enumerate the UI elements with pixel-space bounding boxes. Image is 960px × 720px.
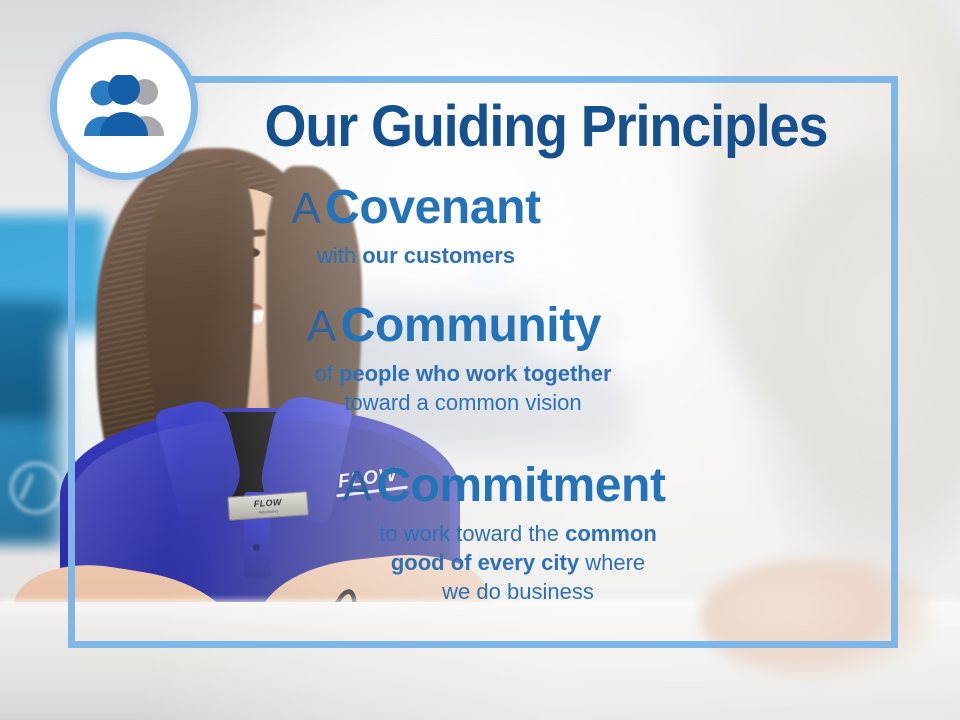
subtext-span: we do business xyxy=(442,579,594,604)
principle-subtext: with our customers xyxy=(68,241,898,270)
subtext-line: toward a common vision xyxy=(68,388,858,417)
principle-heading: A Commitment xyxy=(68,462,898,511)
subtext-span: to work toward the xyxy=(379,521,565,546)
subtext-line: to work toward the common xyxy=(138,519,898,548)
subtext-span-bold: common xyxy=(565,521,657,546)
principle-community: A Community of people who work together … xyxy=(68,302,898,417)
subtext-line: with our customers xyxy=(68,241,764,270)
subtext-line: good of every city where xyxy=(138,548,898,577)
subtext-span: where xyxy=(579,550,645,575)
subtext-span-bold: our customers xyxy=(362,243,515,268)
subtext-line: we do business xyxy=(138,577,898,606)
principle-heading: A Community xyxy=(68,302,898,351)
guiding-principles-graphic: FLOW Automotive FLOW xyxy=(0,0,960,720)
principle-subtext: of people who work together toward a com… xyxy=(68,359,898,417)
principle-word: Covenant xyxy=(325,181,541,234)
subtext-span-bold: people who work together xyxy=(339,361,612,386)
text-content: Our Guiding Principles A Covenant with o… xyxy=(68,76,898,648)
principle-word: Commitment xyxy=(376,459,665,512)
subtext-line: of people who work together xyxy=(68,359,858,388)
principle-heading: A Covenant xyxy=(68,184,898,233)
subtext-span-bold: good of every city xyxy=(391,550,579,575)
principle-subtext: to work toward the common good of every … xyxy=(68,519,898,606)
subtext-span: toward a common vision xyxy=(344,390,581,415)
principle-article: A xyxy=(342,462,371,511)
principle-commitment: A Commitment to work toward the common g… xyxy=(68,462,898,606)
subtext-span: of xyxy=(314,361,338,386)
subtext-span: with xyxy=(317,243,362,268)
page-title: Our Guiding Principles xyxy=(248,98,843,156)
principle-article: A xyxy=(291,184,320,233)
principle-covenant: A Covenant with our customers xyxy=(68,184,898,270)
principle-word: Community xyxy=(341,299,601,352)
principle-article: A xyxy=(307,302,336,351)
